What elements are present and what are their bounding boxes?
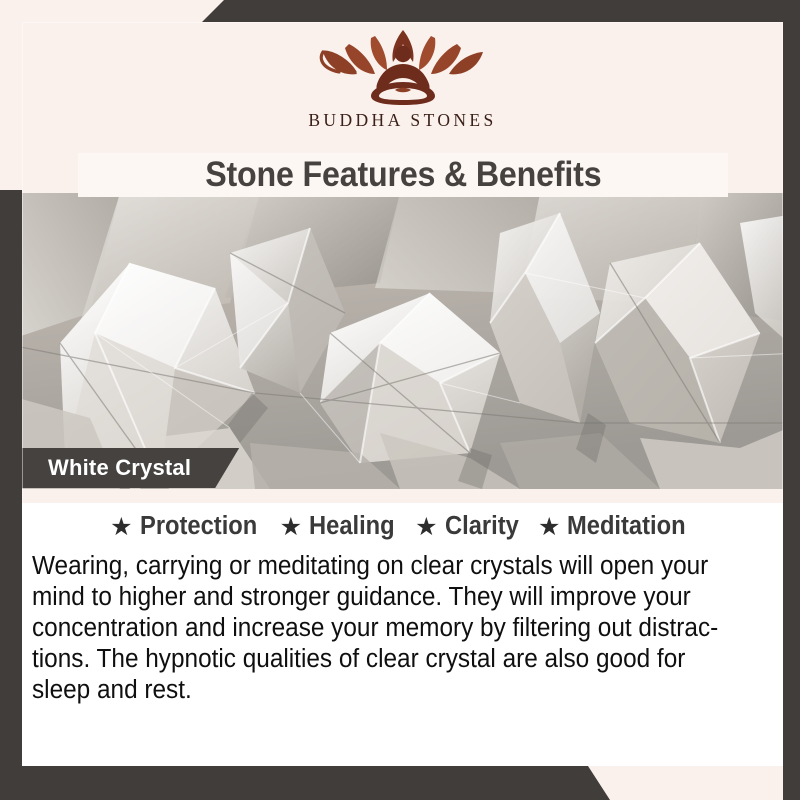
frame-bottom-bar [0,766,800,800]
frame-right-bar [783,0,800,800]
benefit-label: Protection [140,512,257,541]
page-title: Stone Features & Benefits [205,155,601,195]
lotus-meditation-figure-icon [309,28,497,106]
star-icon: ★ [538,515,560,540]
frame-left-gap [0,0,22,190]
brand-name: BUDDHA STONES [308,110,496,131]
benefits-row: ★ Protection ★ Healing ★ Clarity ★ Medit… [22,512,783,541]
photo-caption-banner: White Crystal [22,448,239,488]
benefit-item-clarity: ★ Clarity [415,512,524,541]
frame-top-bar [0,0,800,22]
benefit-item-meditation: ★ Meditation [538,512,695,541]
brand-logo: BUDDHA STONES [22,28,783,131]
star-icon: ★ [280,515,302,540]
benefit-label: Clarity [445,512,519,541]
benefit-item-protection: ★ Protection [110,512,266,541]
description-text: Wearing, carrying or meditating on clear… [32,551,739,706]
benefit-item-healing: ★ Healing [280,512,402,541]
header-section: BUDDHA STONES Stone Features & Benefits [22,22,783,193]
crystal-photo-image [0,193,800,489]
star-icon: ★ [110,515,132,540]
crystal-photo [0,193,800,489]
star-icon: ★ [415,515,437,540]
title-band: Stone Features & Benefits [78,153,728,197]
benefit-label: Meditation [567,512,686,541]
photo-caption-label: White Crystal [48,455,191,481]
content-panel: ★ Protection ★ Healing ★ Clarity ★ Medit… [22,489,783,766]
benefit-label: Healing [309,512,395,541]
accent-strip [22,489,783,503]
poster-root: BUDDHA STONES Stone Features & Benefits [0,0,800,800]
